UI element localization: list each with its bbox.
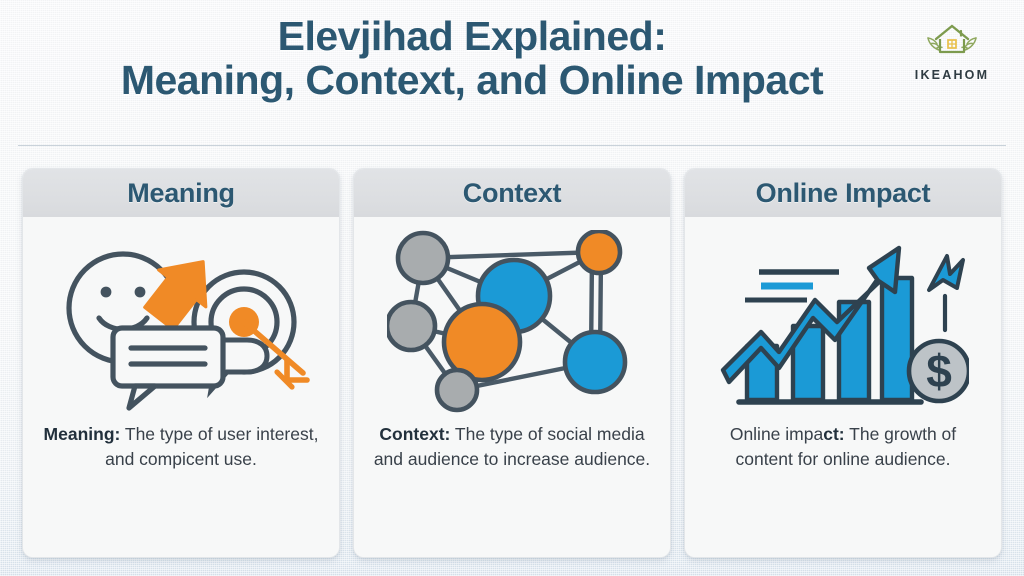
card-online-impact[interactable]: Online Impact xyxy=(684,168,1002,558)
card-body-online-impact: $ Online impact: The growth of content f… xyxy=(685,217,1001,557)
title-line-2: Meaning, Context, and Online Impact xyxy=(40,58,904,102)
card-body-context: Context: The type of social media and au… xyxy=(354,217,670,557)
caption-body-meaning: The type of user interest, and compicent… xyxy=(105,424,318,469)
card-caption-meaning: Meaning: The type of user interest, and … xyxy=(37,422,325,545)
header-divider xyxy=(18,145,1006,146)
growth-bar-chart-arrow-dollar-icon: $ xyxy=(717,227,969,422)
caption-lead-meaning: Meaning: xyxy=(44,424,121,444)
caption-lead-context: Context: xyxy=(379,424,450,444)
card-context[interactable]: Context xyxy=(353,168,671,558)
ikeahom-logo[interactable]: IKEAHOM xyxy=(902,20,1002,82)
card-caption-online-impact: Online impact: The growth of content for… xyxy=(699,422,987,545)
house-with-leaves-icon xyxy=(902,20,1002,65)
card-title-meaning: Meaning xyxy=(127,178,234,209)
card-caption-context: Context: The type of social media and au… xyxy=(368,422,656,545)
smiley-face-speech-bubbles-target-icon xyxy=(51,227,311,422)
title-line-1: Elevjihad Explained: xyxy=(40,14,904,58)
network-nodes-graph-icon xyxy=(387,227,637,422)
card-title-context: Context xyxy=(463,178,561,209)
card-header-online-impact: Online Impact xyxy=(685,169,1001,217)
page-title: Elevjihad Explained: Meaning, Context, a… xyxy=(0,14,1024,103)
card-title-online-impact: Online Impact xyxy=(756,178,931,209)
card-header-context: Context xyxy=(354,169,670,217)
card-header-meaning: Meaning xyxy=(23,169,339,217)
logo-wordmark: IKEAHOM xyxy=(902,68,1002,82)
card-body-meaning: Meaning: The type of user interest, and … xyxy=(23,217,339,557)
cards-row: Meaning xyxy=(22,168,1002,558)
infographic-page: Elevjihad Explained: Meaning, Context, a… xyxy=(0,0,1024,576)
svg-text:$: $ xyxy=(926,345,952,397)
caption-lead-online-impact: Online impa xyxy=(730,424,823,444)
header: Elevjihad Explained: Meaning, Context, a… xyxy=(0,0,1024,145)
caption-bold-online-impact: ct: xyxy=(823,424,844,444)
card-meaning[interactable]: Meaning xyxy=(22,168,340,558)
